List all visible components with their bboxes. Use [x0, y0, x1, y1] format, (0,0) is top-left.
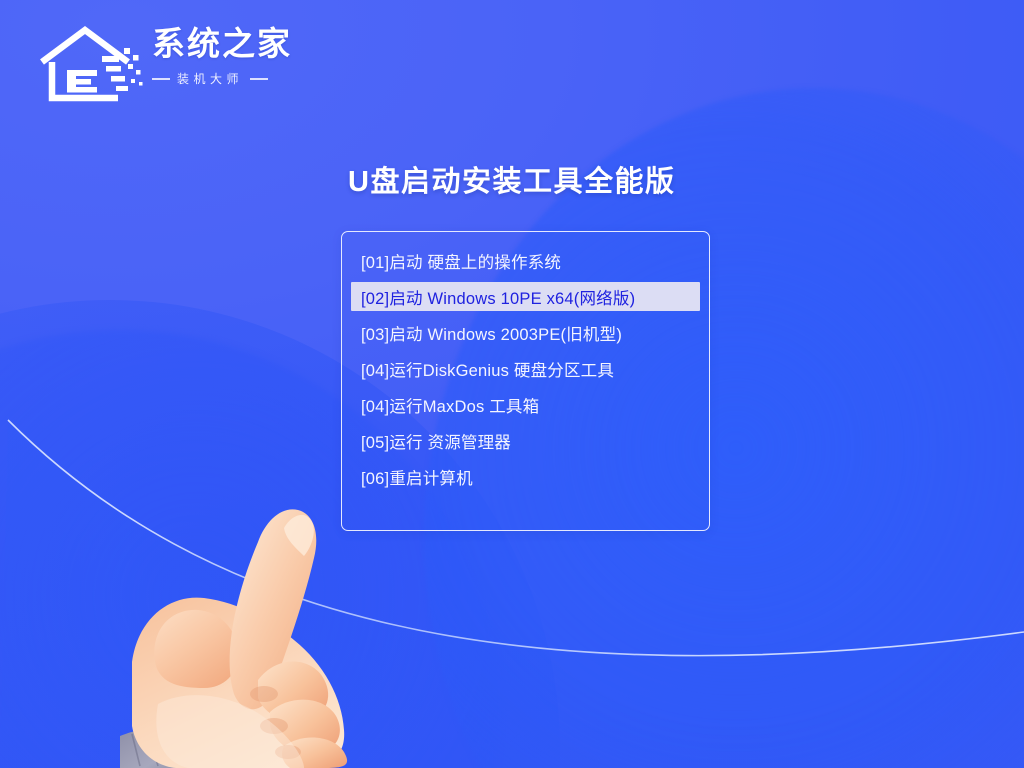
house-pixel-logo-icon: [36, 18, 148, 104]
boot-menu-screen: 系统之家 装机大师 U盘启动安装工具全能版 [01]启动 硬盘上的操作系统 [0…: [0, 0, 1024, 768]
brand-subtitle-row: 装机大师: [152, 70, 312, 87]
menu-item-04-diskgenius[interactable]: [04]运行DiskGenius 硬盘分区工具: [351, 354, 700, 383]
menu-item-05[interactable]: [05]运行 资源管理器: [351, 426, 700, 455]
brand-logo-text: 系统之家 装机大师: [152, 24, 312, 87]
brand-logo: 系统之家 装机大师: [36, 14, 306, 106]
menu-item-06[interactable]: [06]重启计算机: [351, 462, 700, 491]
subtitle-dash-left: [152, 78, 170, 80]
page-title: U盘启动安装工具全能版: [348, 158, 748, 200]
menu-item-01[interactable]: [01]启动 硬盘上的操作系统: [351, 246, 700, 275]
pointing-hand-illustration: [118, 498, 386, 768]
menu-item-04-maxdos[interactable]: [04]运行MaxDos 工具箱: [351, 390, 700, 419]
brand-name: 系统之家: [152, 24, 312, 64]
menu-item-02[interactable]: [02]启动 Windows 10PE x64(网络版): [351, 282, 700, 311]
boot-menu-box: [01]启动 硬盘上的操作系统 [02]启动 Windows 10PE x64(…: [341, 231, 710, 531]
subtitle-dash-right: [250, 78, 268, 80]
menu-item-03[interactable]: [03]启动 Windows 2003PE(旧机型): [351, 318, 700, 347]
brand-subtitle: 装机大师: [177, 70, 243, 87]
boot-menu-list[interactable]: [01]启动 硬盘上的操作系统 [02]启动 Windows 10PE x64(…: [342, 246, 709, 498]
